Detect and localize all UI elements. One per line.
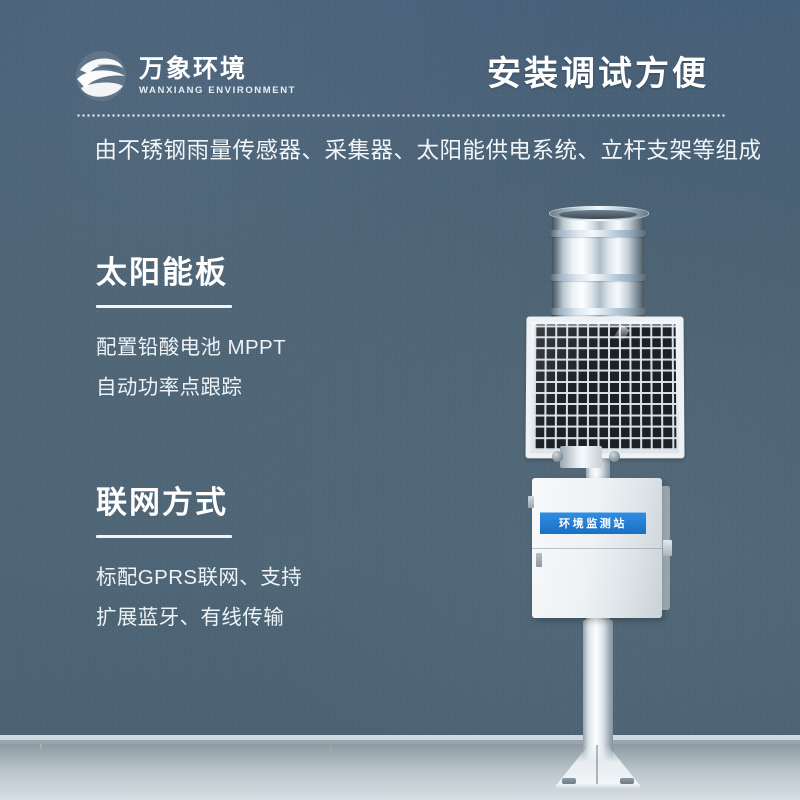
feature-rule [96, 535, 232, 538]
control-box-vent [536, 553, 542, 567]
rain-gauge-band [550, 230, 646, 237]
rain-gauge-band [550, 308, 646, 315]
swirl-globe-logo-icon [73, 48, 129, 104]
bracket-bolt [609, 451, 620, 462]
control-box-seam [532, 548, 662, 549]
feature-rule [96, 305, 232, 308]
rain-gauge-band [550, 274, 646, 281]
feature-line: 标配GPRS联网、支持 [96, 558, 302, 598]
feature-block-network: 联网方式 标配GPRS联网、支持 扩展蓝牙、有线传输 [96, 485, 302, 638]
product-banner: 万象环境 WANXIANG ENVIRONMENT 安装调试方便 由不锈钢雨量传… [0, 0, 800, 800]
dotted-divider [76, 114, 726, 117]
feature-title: 太阳能板 [96, 255, 286, 291]
feature-title: 联网方式 [96, 485, 302, 521]
brand-name-cn: 万象环境 [139, 56, 296, 82]
feature-block-solar-panel: 太阳能板 配置铅酸电池 MPPT 自动功率点跟踪 [96, 255, 286, 408]
page-title: 安装调试方便 [487, 46, 709, 95]
feature-line: 配置铅酸电池 MPPT [96, 328, 286, 368]
control-box-latch [663, 540, 672, 556]
rain-gauge-funnel-opening [559, 210, 637, 219]
weather-station-device: 环境监测站 [500, 200, 740, 800]
header: 万象环境 WANXIANG ENVIRONMENT 安装调试方便 [0, 0, 800, 116]
bracket-bolt [552, 451, 563, 462]
base-plate-edge [596, 745, 598, 787]
solar-panel-bracket [560, 446, 602, 468]
page-subtitle: 由不锈钢雨量传感器、采集器、太阳能供电系统、立杆支架等组成 [68, 133, 788, 165]
solar-panel [526, 317, 685, 459]
feature-line: 自动功率点跟踪 [96, 368, 286, 408]
feature-line: 扩展蓝牙、有线传输 [96, 598, 302, 638]
brand-text: 万象环境 WANXIANG ENVIRONMENT [139, 56, 296, 96]
brand-name-en: WANXIANG ENVIRONMENT [139, 85, 296, 96]
brand-logo: 万象环境 WANXIANG ENVIRONMENT [73, 48, 296, 104]
solar-panel-cells [534, 324, 677, 450]
base-foot [556, 784, 640, 790]
control-box-hinge [528, 496, 534, 508]
control-box-label: 环境监测站 [540, 512, 646, 534]
